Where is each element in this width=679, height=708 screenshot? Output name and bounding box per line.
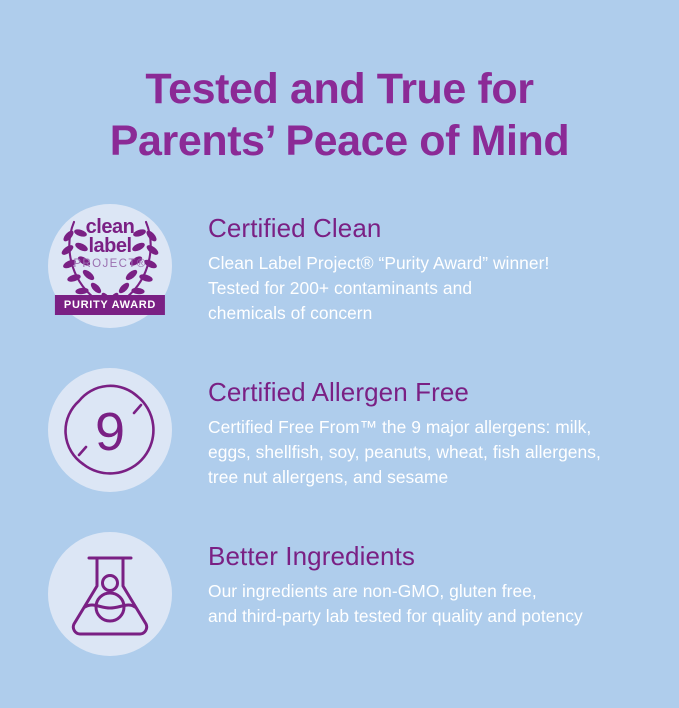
feature-text-block: Certified Allergen Free Certified Free F…: [172, 366, 601, 490]
feature-desc-line: and third-party lab tested for quality a…: [208, 606, 583, 626]
feature-description: Clean Label Project® “Purity Award” winn…: [208, 251, 549, 325]
feature-text-block: Certified Clean Clean Label Project® “Pu…: [172, 202, 549, 326]
page-title: Tested and True for Parents’ Peace of Mi…: [0, 29, 679, 168]
feature-icon-slot: 9: [48, 368, 172, 492]
feature-heading: Certified Clean: [208, 214, 549, 243]
clean-label-project-badge-icon: clean label PROJECT® PURITY AWARD: [48, 204, 172, 328]
infographic-page: Tested and True for Parents’ Peace of Mi…: [0, 29, 679, 708]
nine-allergen-free-icon: 9: [48, 368, 172, 492]
feature-desc-line: Certified Free From™ the 9 major allerge…: [208, 417, 591, 437]
feature-icon-slot: [48, 532, 172, 656]
badge-purity-award-banner: PURITY AWARD: [55, 295, 165, 315]
feature-desc-line: Clean Label Project® “Purity Award” winn…: [208, 253, 549, 273]
feature-item-better-ingredients: Better Ingredients Our ingredients are n…: [0, 530, 679, 656]
feature-desc-line: eggs, shellfish, soy, peanuts, wheat, fi…: [208, 442, 601, 462]
feature-description: Our ingredients are non-GMO, gluten free…: [208, 579, 583, 628]
feature-desc-line: tree nut allergens, and sesame: [208, 467, 448, 487]
flask-icon-circle: [48, 532, 172, 656]
feature-heading: Better Ingredients: [208, 542, 583, 571]
page-title-line-2: Parents’ Peace of Mind: [0, 115, 679, 167]
crossed-circle-nine-icon: 9: [55, 375, 165, 485]
feature-description: Certified Free From™ the 9 major allerge…: [208, 415, 601, 489]
feature-desc-line: chemicals of concern: [208, 303, 372, 323]
feature-desc-line: Tested for 200+ contaminants and: [208, 278, 472, 298]
allergen-count-value: 9: [95, 402, 125, 462]
feature-list: clean label PROJECT® PURITY AWARD Certif…: [0, 202, 679, 694]
flask-icon: [60, 544, 160, 644]
feature-heading: Certified Allergen Free: [208, 378, 601, 407]
feature-item-certified-clean: clean label PROJECT® PURITY AWARD Certif…: [0, 202, 679, 328]
feature-text-block: Better Ingredients Our ingredients are n…: [172, 530, 583, 629]
feature-icon-slot: clean label PROJECT® PURITY AWARD: [48, 204, 172, 328]
feature-item-certified-allergen-free: 9 Certified Allergen Free Certified Free…: [0, 366, 679, 492]
feature-desc-line: Our ingredients are non-GMO, gluten free…: [208, 581, 537, 601]
page-title-line-1: Tested and True for: [0, 63, 679, 115]
